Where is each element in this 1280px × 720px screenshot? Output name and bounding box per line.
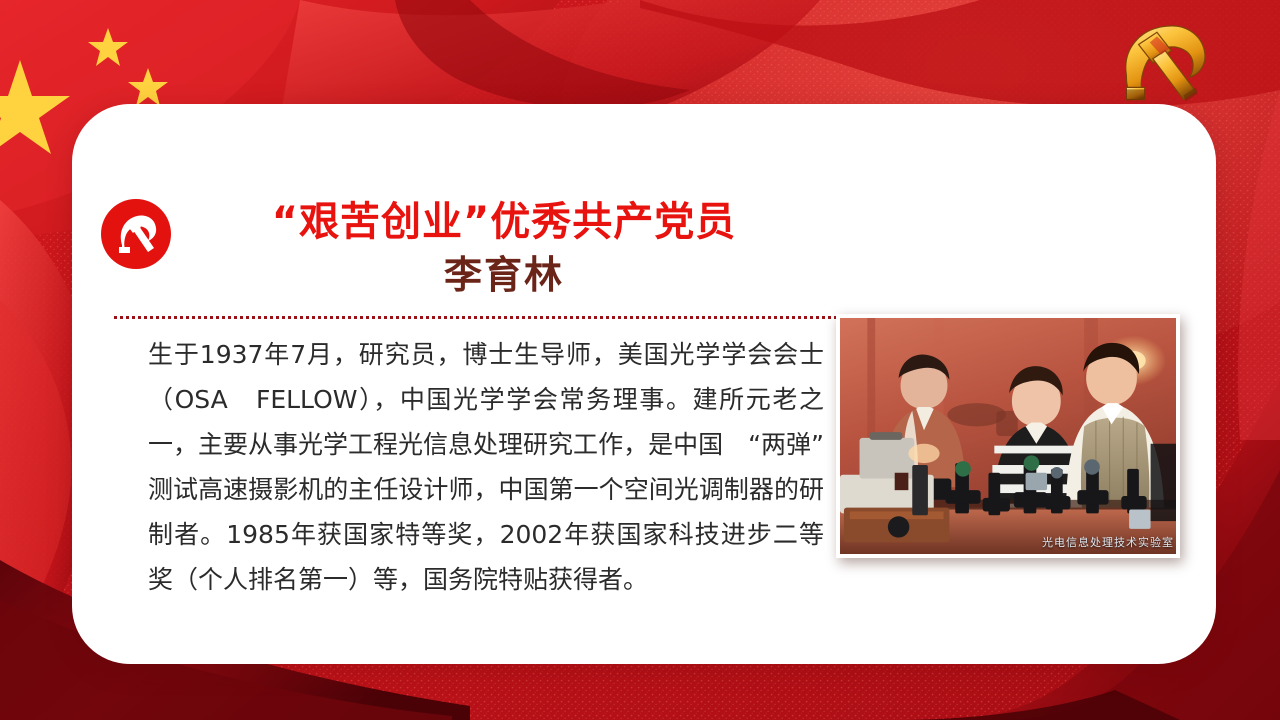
header: “艰苦创业”优秀共产党员 李育林 (100, 196, 828, 312)
party-hammer-sickle-red-circle (100, 198, 172, 270)
lab-researchers-photo: 光电信息处理技术实验室 (840, 318, 1176, 554)
biography-paragraph: 生于1937年7月，研究员，博士生导师，美国光学学会会士（OSA FELLOW）… (148, 332, 824, 602)
content-card: “艰苦创业”优秀共产党员 李育林 生于1937年7月，研究员，博士生导师，美国光… (72, 104, 1216, 664)
photo-caption: 光电信息处理技术实验室 (1042, 534, 1174, 550)
person-name: 李育林 (184, 248, 824, 302)
photo-frame: 光电信息处理技术实验室 (836, 314, 1180, 558)
dotted-divider (114, 316, 840, 319)
page-title: “艰苦创业”优秀共产党员 (184, 196, 824, 248)
title-block: “艰苦创业”优秀共产党员 李育林 (184, 196, 824, 302)
photo-artwork (840, 318, 1176, 554)
biography-text: 生于1937年7月，研究员，博士生导师，美国光学学会会士（OSA FELLOW）… (148, 332, 824, 602)
